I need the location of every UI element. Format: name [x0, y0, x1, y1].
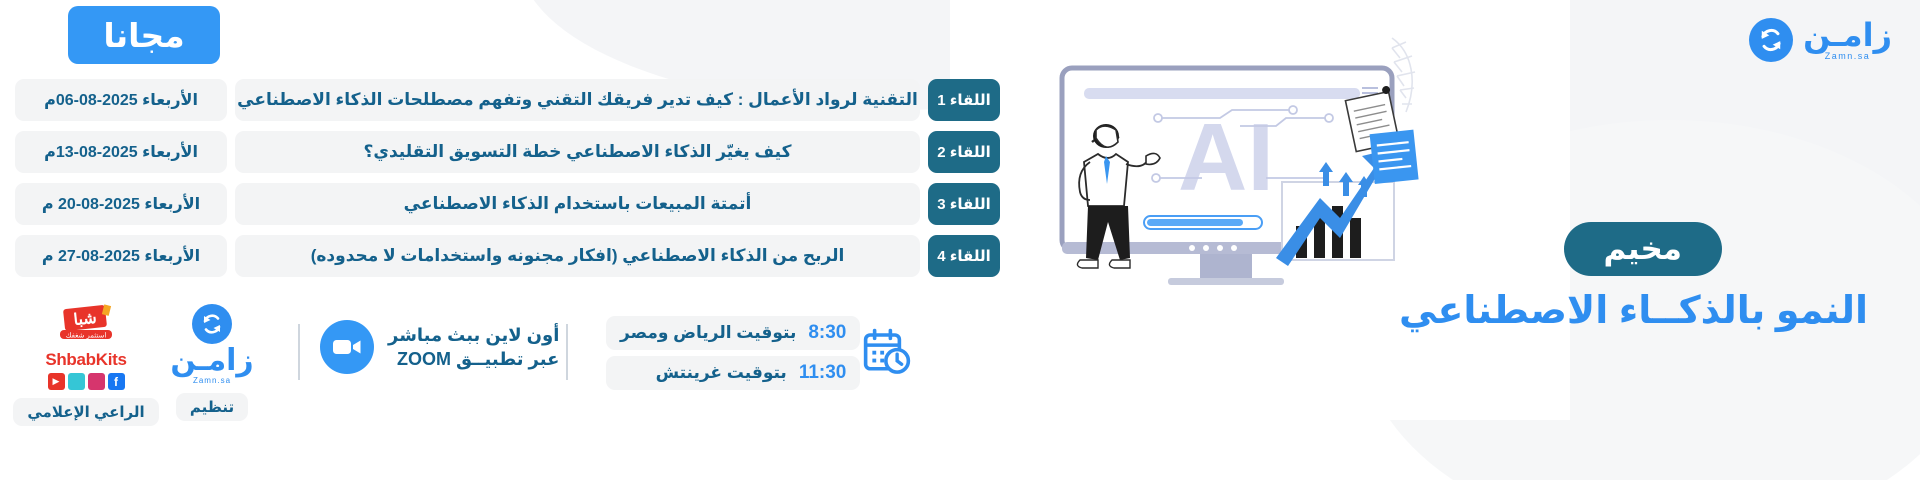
facebook-icon[interactable]: f: [108, 373, 125, 390]
banner-footer: 8:30 بتوقيت الرياض ومصر 11:30 بتوقيت غري…: [0, 296, 1010, 480]
calendar-clock-icon: [860, 326, 914, 380]
session-title: كيف يغيّر الذكاء الاصطناعي خطة التسويق ا…: [235, 131, 920, 173]
brand-subtext: Zamn.sa: [1825, 51, 1871, 61]
shbabkits-mark: شبا استثمر شغفك: [47, 304, 125, 348]
time-row: 11:30 بتوقيت غرينتش: [606, 356, 860, 390]
stream-info-block: أون لاين ببث مباشر عبر تطبيــق ZOOM: [320, 320, 559, 374]
session-number-badge: اللقاء 2: [928, 131, 1000, 173]
video-camera-icon: [320, 320, 374, 374]
session-title: أتمتة المبيعات باستخدام الذكاء الاصطناعي: [235, 183, 920, 225]
brand-logo: زامـن Zamn.sa: [1749, 18, 1892, 62]
shbabkits-wordmark: ShbabKits: [45, 350, 126, 370]
ai-watermark: AI: [1178, 104, 1274, 211]
svg-text:شبا: شبا: [73, 310, 98, 329]
divider: [298, 324, 300, 380]
time-value: 11:30: [799, 362, 847, 384]
stream-line-1: أون لاين ببث مباشر: [388, 323, 559, 347]
zamn-subtext: Zamn.sa: [193, 376, 231, 385]
sponsor-zamn: زامـن Zamn.sa تنظيم: [156, 304, 268, 421]
sessions-list: اللقاء 1 التقنية لرواد الأعمال : كيف تدي…: [0, 78, 1010, 286]
ai-presentation-illustration: AI: [1040, 30, 1440, 300]
sponsors-block: زامـن Zamn.sa تنظيم شبا استثمر شغفك: [30, 304, 268, 426]
promo-banner: مجانا اللقاء 1 التقنية لرواد الأعمال : ك…: [0, 0, 1920, 480]
tiktok-icon[interactable]: [68, 373, 85, 390]
table-row: اللقاء 1 التقنية لرواد الأعمال : كيف تدي…: [0, 78, 1010, 122]
zamn-logo: زامـن Zamn.sa: [170, 304, 253, 385]
table-row: اللقاء 3 أتمتة المبيعات باستخدام الذكاء …: [0, 182, 1010, 226]
table-row: اللقاء 2 كيف يغيّر الذكاء الاصطناعي خطة …: [0, 130, 1010, 174]
brand-wordmark: زامـن: [1803, 19, 1892, 51]
sponsor-shbabkits: شبا استثمر شغفك ShbabKits f ▶: [30, 304, 142, 426]
session-title: التقنية لرواد الأعمال : كيف تدير فريقك ا…: [235, 79, 920, 121]
time-zone-label: بتوقيت غرينتش: [656, 363, 787, 383]
session-number-badge: اللقاء 1: [928, 79, 1000, 121]
schedule-panel: مجانا اللقاء 1 التقنية لرواد الأعمال : ك…: [0, 0, 1010, 480]
session-number-badge: اللقاء 3: [928, 183, 1000, 225]
time-zone-label: بتوقيت الرياض ومصر: [620, 323, 796, 343]
zamn-wordmark: زامـن: [170, 346, 253, 376]
instagram-icon[interactable]: [88, 373, 105, 390]
sponsor-caption: تنظيم: [176, 393, 248, 421]
youtube-icon[interactable]: ▶: [48, 373, 65, 390]
stream-line-2: عبر تطبيــق ZOOM: [388, 347, 559, 371]
time-rows: 8:30 بتوقيت الرياض ومصر 11:30 بتوقيت غري…: [606, 316, 860, 390]
session-date: الأربعاء 2025-08-20 م: [15, 183, 227, 225]
shbabkits-logo: شبا استثمر شغفك ShbabKits f ▶: [45, 304, 126, 390]
session-title: الربح من الذكاء الاصطناعي (افكار مجنونه …: [235, 235, 920, 277]
table-row: اللقاء 4 الربح من الذكاء الاصطناعي (افكا…: [0, 234, 1010, 278]
schedule-time-block: 8:30 بتوقيت الرياض ومصر 11:30 بتوقيت غري…: [596, 316, 914, 390]
sync-icon: [192, 304, 232, 344]
time-value: 8:30: [808, 322, 846, 344]
divider: [566, 324, 568, 380]
session-number-badge: اللقاء 4: [928, 235, 1000, 277]
session-date: الأربعاء 2025-08-27 م: [15, 235, 227, 277]
free-badge: مجانا: [68, 6, 220, 64]
stream-text: أون لاين ببث مباشر عبر تطبيــق ZOOM: [388, 323, 559, 372]
camp-badge: مخيم: [1564, 222, 1723, 276]
time-row: 8:30 بتوقيت الرياض ومصر: [606, 316, 860, 350]
session-date: الأربعاء 2025-08-13م: [15, 131, 227, 173]
sync-icon: [1749, 18, 1793, 62]
session-date: الأربعاء 2025-08-06م: [15, 79, 227, 121]
sponsor-caption: الراعي الإعلامي: [13, 398, 158, 426]
svg-text:استثمر شغفك: استثمر شغفك: [66, 332, 107, 340]
page-title: النمو بالذكــاء الاصطناعي: [1399, 288, 1868, 333]
social-icons: f ▶: [48, 373, 125, 390]
